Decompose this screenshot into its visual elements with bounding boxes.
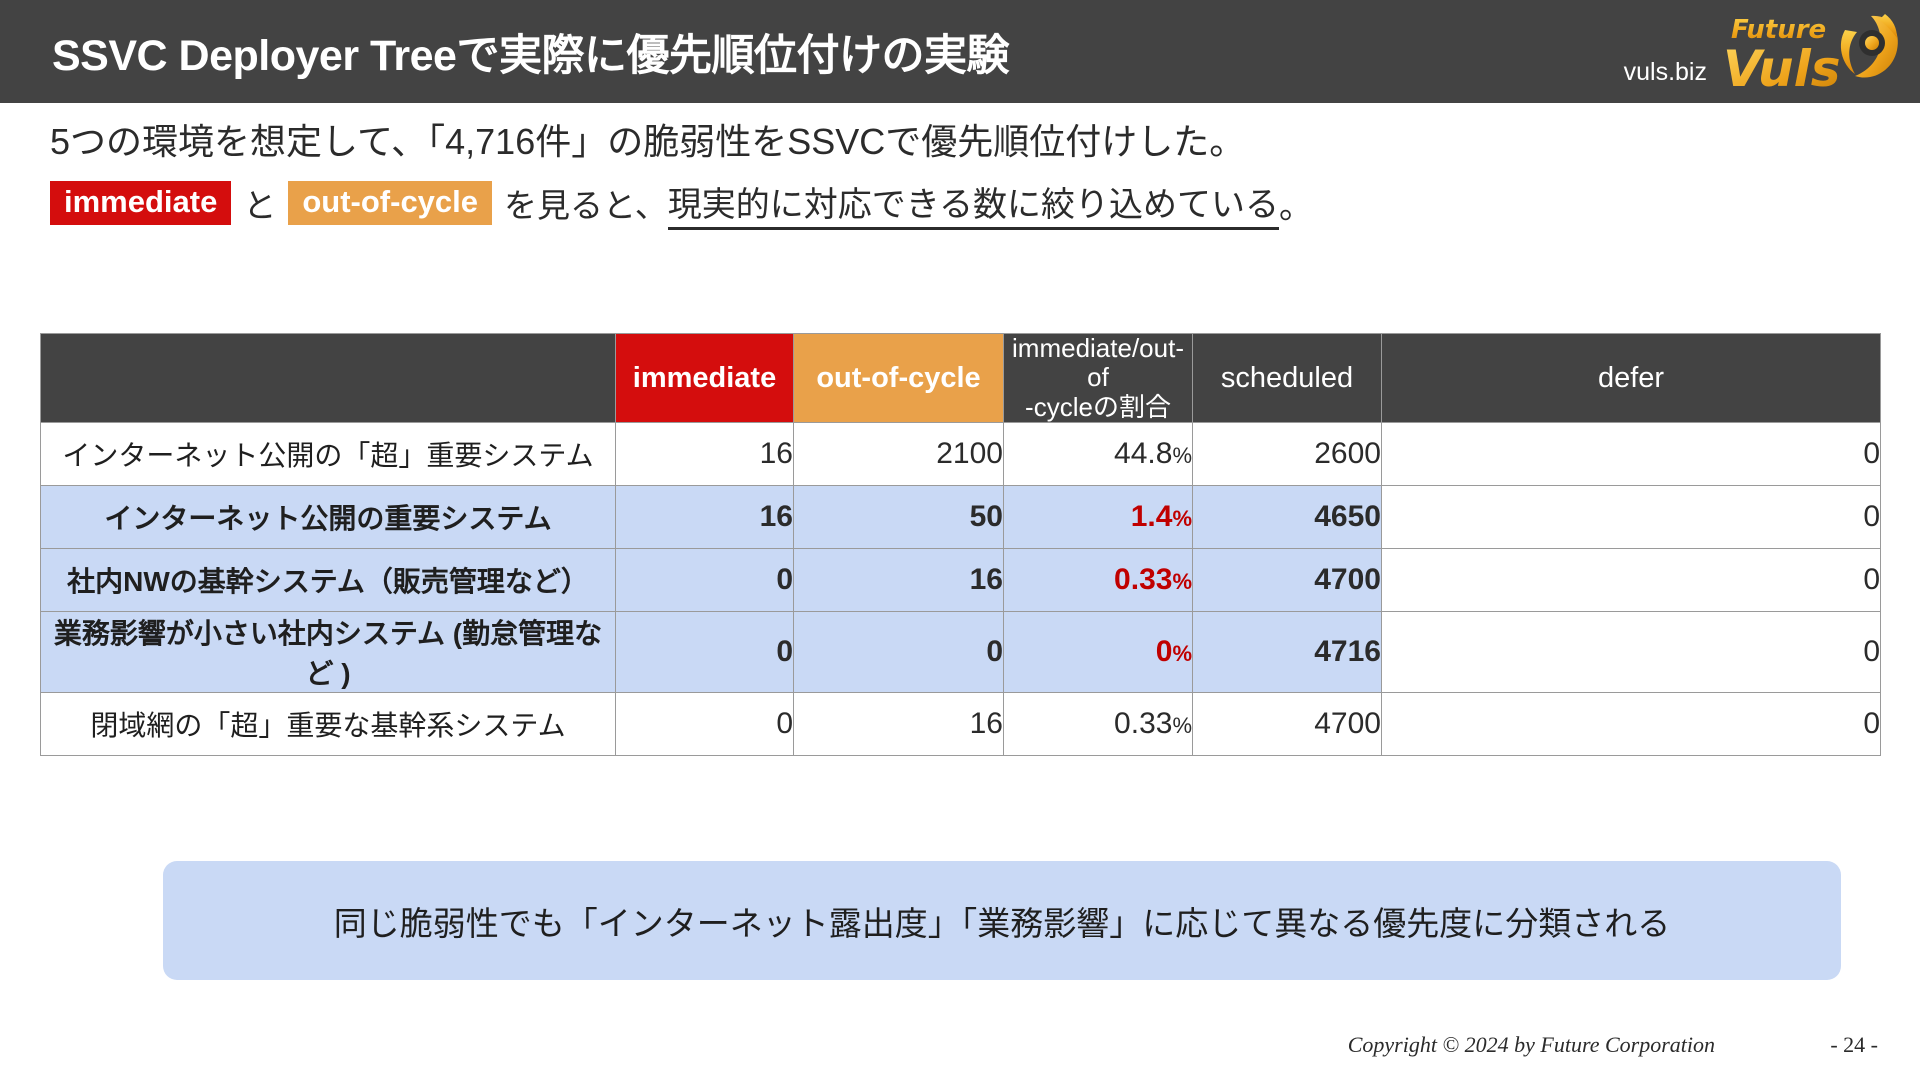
row-label: 社内NWの基幹システム（販売管理など）: [41, 549, 616, 612]
cell-immediate: 0: [616, 693, 794, 756]
ratio-unit: %: [1172, 443, 1192, 468]
header-ratio: immediate/out-of -cycleの割合: [1004, 334, 1193, 423]
cell-out-of-cycle: 16: [794, 693, 1004, 756]
ratio-value: 0.33: [1114, 563, 1172, 596]
header-blank: [41, 334, 616, 423]
table-header-row: immediate out-of-cycle immediate/out-of …: [41, 334, 1881, 423]
table-row: 業務影響が小さい社内システム (勤怠管理など ) 0 0 0% 4716 0: [41, 612, 1881, 693]
lead-paragraph: 5つの環境を想定して、「4,716件」の脆弱性をSSVCで優先順位付けした。 i…: [50, 118, 1750, 230]
cell-immediate: 0: [616, 549, 794, 612]
cell-out-of-cycle: 2100: [794, 423, 1004, 486]
table-row: 社内NWの基幹システム（販売管理など） 0 16 0.33% 4700 0: [41, 549, 1881, 612]
cell-scheduled: 2600: [1193, 423, 1382, 486]
summary-callout: 同じ脆弱性でも「インターネット露出度」「業務影響」に応じて異なる優先度に分類され…: [163, 861, 1841, 980]
cell-defer: 0: [1382, 423, 1881, 486]
row-label: 業務影響が小さい社内システム (勤怠管理など ): [41, 612, 616, 693]
cell-defer: 0: [1382, 693, 1881, 756]
chip-out-of-cycle: out-of-cycle: [288, 181, 492, 226]
brand-url: vuls.biz: [1624, 58, 1707, 87]
cell-immediate: 16: [616, 486, 794, 549]
cell-out-of-cycle: 50: [794, 486, 1004, 549]
ratio-value: 0.33: [1114, 707, 1172, 740]
ratio-unit: %: [1172, 506, 1192, 531]
page-number: - 24 -: [1830, 1032, 1878, 1058]
cell-defer: 0: [1382, 486, 1881, 549]
brand-group: vuls.biz Future Vuls: [1624, 0, 1902, 103]
callout-text: 同じ脆弱性でも「インターネット露出度」「業務影響」に応じて異なる優先度に分類され…: [334, 897, 1671, 945]
ratio-value: 44.8: [1114, 437, 1172, 470]
cell-out-of-cycle: 16: [794, 549, 1004, 612]
row-label: 閉域網の「超」重要な基幹系システム: [41, 693, 616, 756]
cell-defer: 0: [1382, 612, 1881, 693]
ratio-unit: %: [1172, 713, 1192, 738]
lead-tail-prefix: を見ると、: [492, 179, 668, 227]
lead-tail-suffix: 。: [1279, 179, 1313, 228]
cell-immediate: 16: [616, 423, 794, 486]
header-ratio-line2: -cycleの割合: [1025, 392, 1171, 422]
lead-conjunction: と: [231, 179, 288, 227]
page-title: SSVC Deployer Treeで実際に優先順位付けの実験: [52, 21, 1009, 83]
cell-ratio: 0%: [1004, 612, 1193, 693]
ratio-value: 0: [1156, 635, 1173, 668]
lead-line-2: immediate と out-of-cycle を見ると、 現実的に対応できる…: [50, 177, 1750, 230]
table-row: インターネット公開の重要システム 16 50 1.4% 4650 0: [41, 486, 1881, 549]
cell-scheduled: 4700: [1193, 549, 1382, 612]
slide-header-bar: SSVC Deployer Treeで実際に優先順位付けの実験 vuls.biz: [0, 0, 1920, 103]
chip-immediate: immediate: [50, 181, 231, 226]
lead-tail-underlined: 現実的に対応できる数に絞り込めている: [668, 177, 1279, 230]
header-scheduled: scheduled: [1193, 334, 1382, 423]
cell-scheduled: 4700: [1193, 693, 1382, 756]
svg-text:Vuls: Vuls: [1723, 40, 1841, 98]
header-defer: defer: [1382, 334, 1881, 423]
copyright-text: Copyright © 2024 by Future Corporation: [1348, 1032, 1715, 1058]
cell-scheduled: 4716: [1193, 612, 1382, 693]
header-out-of-cycle: out-of-cycle: [794, 334, 1004, 423]
future-vuls-logo: Future Vuls: [1717, 2, 1902, 102]
lead-line-1: 5つの環境を想定して、「4,716件」の脆弱性をSSVCで優先順位付けした。: [50, 118, 1750, 167]
row-label: インターネット公開の「超」重要システム: [41, 423, 616, 486]
cell-ratio: 0.33%: [1004, 693, 1193, 756]
cell-scheduled: 4650: [1193, 486, 1382, 549]
priority-matrix-table: immediate out-of-cycle immediate/out-of …: [40, 333, 1880, 756]
row-label: インターネット公開の重要システム: [41, 486, 616, 549]
header-immediate: immediate: [616, 334, 794, 423]
cell-out-of-cycle: 0: [794, 612, 1004, 693]
table-row: 閉域網の「超」重要な基幹系システム 0 16 0.33% 4700 0: [41, 693, 1881, 756]
cell-ratio: 1.4%: [1004, 486, 1193, 549]
slide-footer: Copyright © 2024 by Future Corporation -…: [0, 1026, 1920, 1066]
ratio-unit: %: [1172, 569, 1192, 594]
table-row: インターネット公開の「超」重要システム 16 2100 44.8% 2600 0: [41, 423, 1881, 486]
ratio-unit: %: [1172, 641, 1192, 666]
cell-defer: 0: [1382, 549, 1881, 612]
cell-immediate: 0: [616, 612, 794, 693]
cell-ratio: 0.33%: [1004, 549, 1193, 612]
header-ratio-line1: immediate/out-of: [1012, 333, 1184, 392]
ratio-value: 1.4: [1131, 500, 1173, 533]
cell-ratio: 44.8%: [1004, 423, 1193, 486]
